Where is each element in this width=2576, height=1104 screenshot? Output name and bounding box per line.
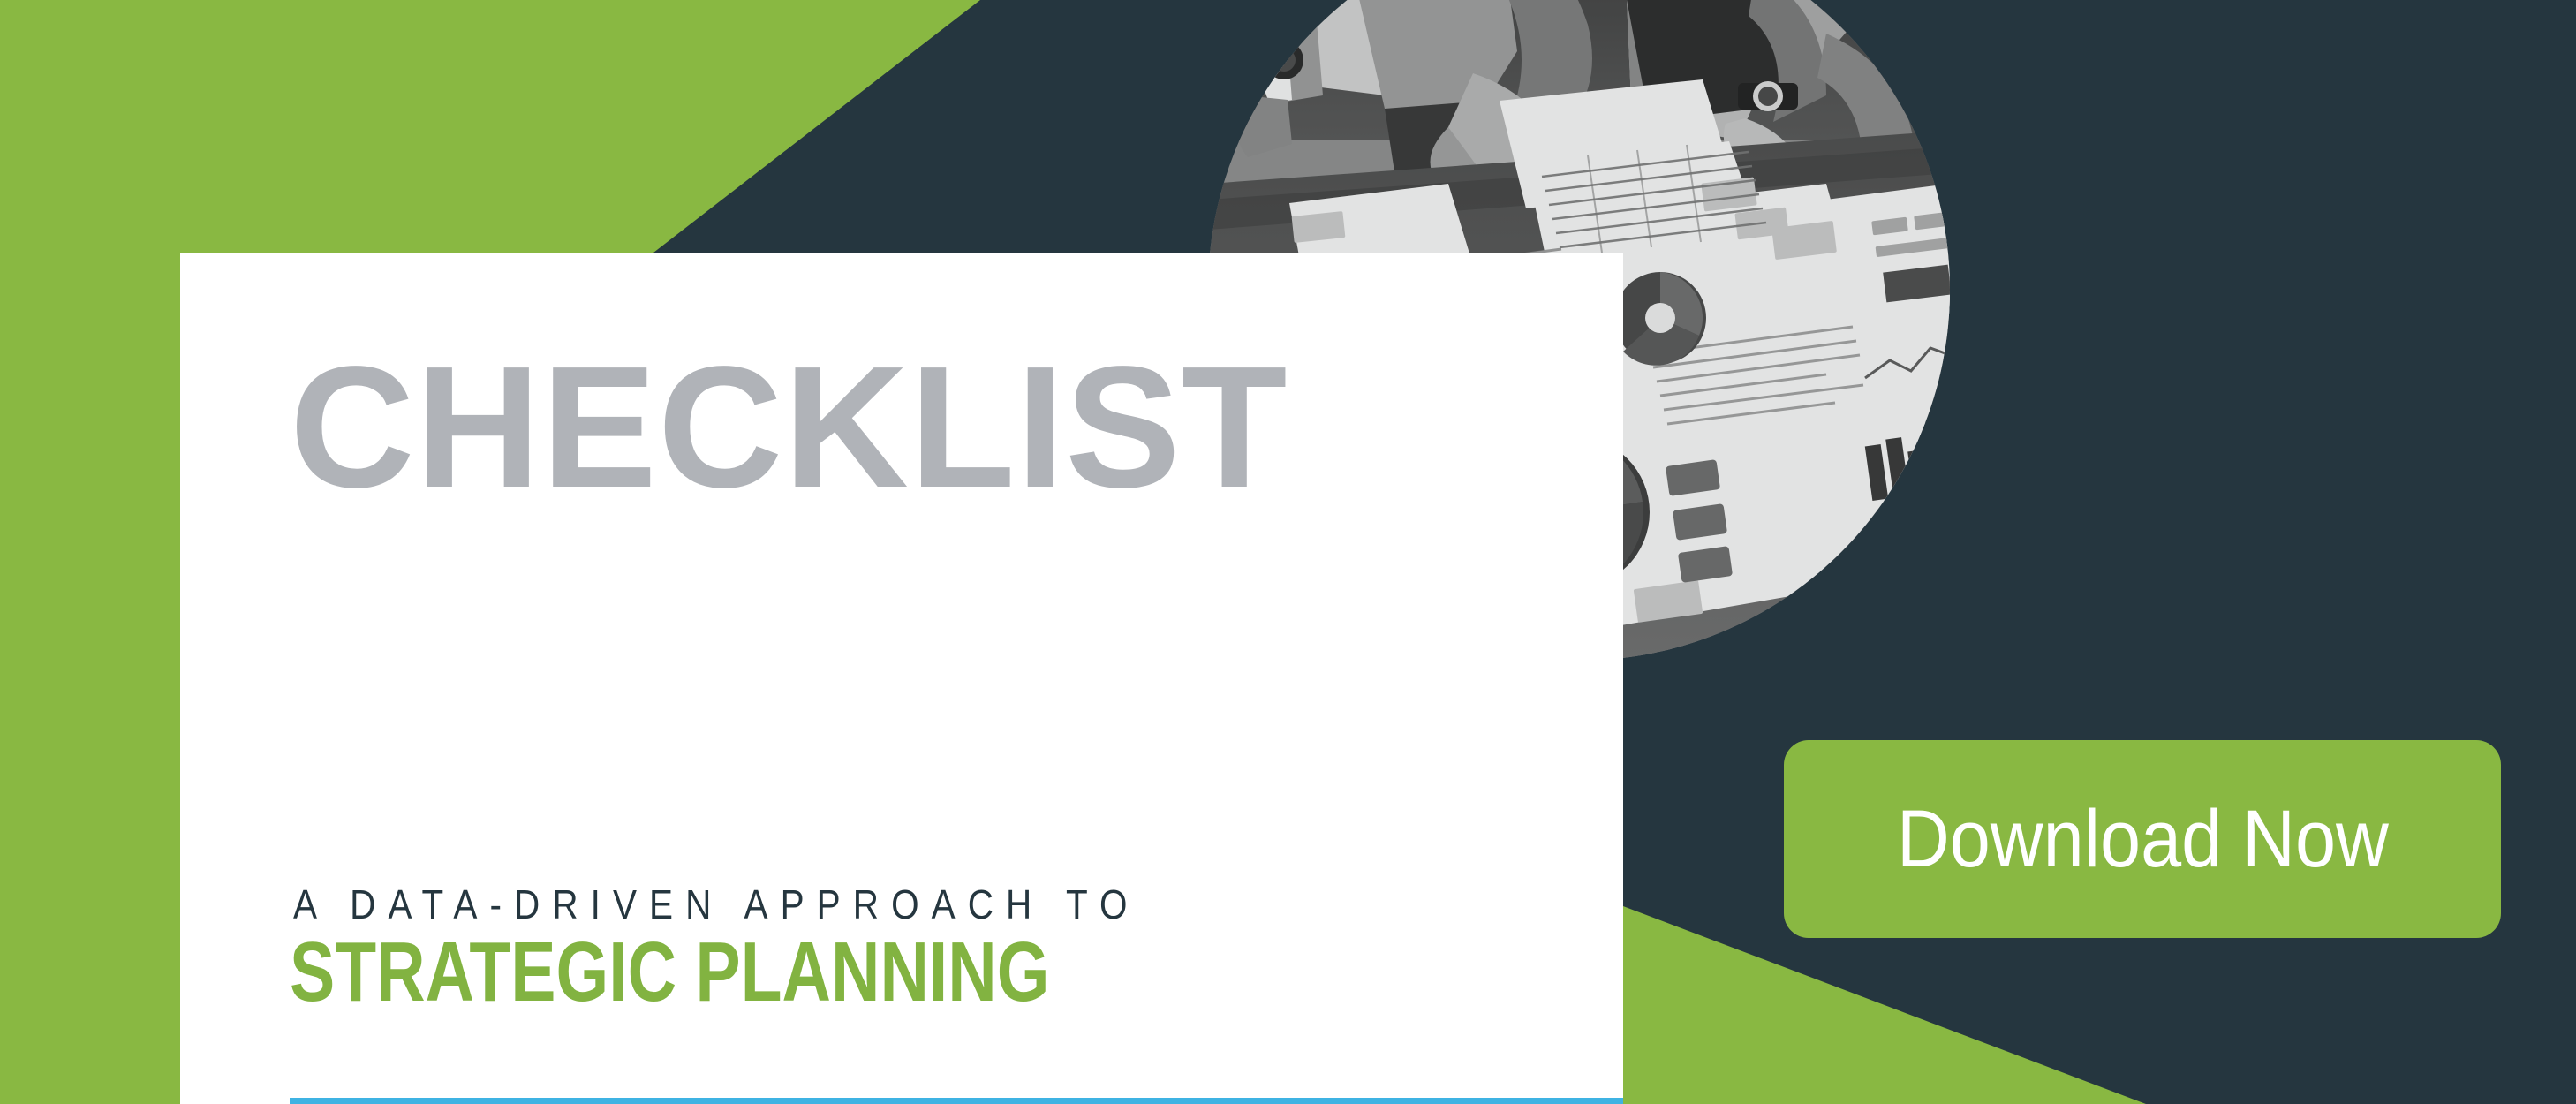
page-title: CHECKLIST — [290, 341, 1288, 514]
subtitle-strategic-planning: STRATEGIC PLANNING — [290, 930, 1049, 1015]
eyebrow-text: A DATA-DRIVEN APPROACH TO — [293, 884, 1140, 925]
download-now-label: Download Now — [1897, 798, 2389, 880]
content-card: CHECKLIST A DATA-DRIVEN APPROACH TO STRA… — [180, 253, 1623, 1104]
download-now-button[interactable]: Download Now — [1784, 740, 2501, 938]
divider-rule — [290, 1098, 1623, 1104]
content-card-inner: CHECKLIST A DATA-DRIVEN APPROACH TO STRA… — [290, 253, 1538, 1104]
promo-banner: CHECKLIST A DATA-DRIVEN APPROACH TO STRA… — [0, 0, 2576, 1104]
